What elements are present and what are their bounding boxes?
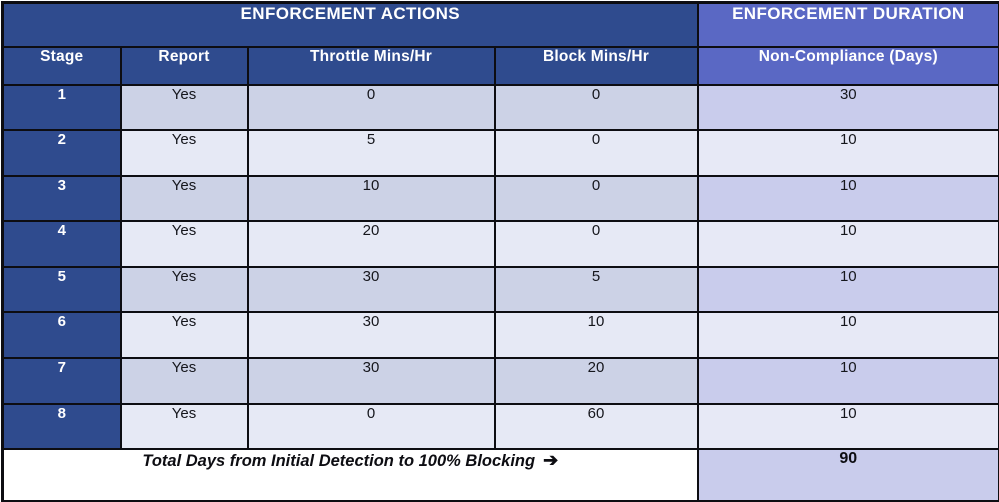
cell-block: 60 [495,404,698,450]
cell-duration: 30 [698,85,999,131]
table-row: 1 Yes 0 0 30 [3,85,999,131]
cell-report: Yes [121,85,248,131]
cell-stage: 2 [3,130,121,176]
column-header-non-compliance-days: Non-Compliance (Days) [698,47,999,85]
column-header-row: Stage Report Throttle Mins/Hr Block Mins… [3,47,999,85]
table-header: ENFORCEMENT ACTIONS ENFORCEMENT DURATION… [3,3,999,85]
cell-block: 0 [495,221,698,267]
cell-block: 5 [495,267,698,313]
cell-throttle: 0 [248,85,495,131]
table-row: 6 Yes 30 10 10 [3,312,999,358]
cell-stage: 7 [3,358,121,404]
cell-report: Yes [121,404,248,450]
group-header-enforcement-actions: ENFORCEMENT ACTIONS [3,3,698,47]
group-header-enforcement-duration: ENFORCEMENT DURATION [698,3,999,47]
cell-duration: 10 [698,312,999,358]
cell-report: Yes [121,312,248,358]
cell-throttle: 20 [248,221,495,267]
cell-throttle: 5 [248,130,495,176]
column-header-stage: Stage [3,47,121,85]
column-header-report: Report [121,47,248,85]
table-row: 2 Yes 5 0 10 [3,130,999,176]
cell-duration: 10 [698,221,999,267]
table-footer: Total Days from Initial Detection to 100… [3,449,999,501]
cell-block: 0 [495,130,698,176]
table-row: 8 Yes 0 60 10 [3,404,999,450]
cell-throttle: 0 [248,404,495,450]
cell-report: Yes [121,130,248,176]
cell-throttle: 10 [248,176,495,222]
summary-row: Total Days from Initial Detection to 100… [3,449,999,501]
table-row: 4 Yes 20 0 10 [3,221,999,267]
cell-throttle: 30 [248,312,495,358]
cell-duration: 10 [698,267,999,313]
cell-stage: 5 [3,267,121,313]
cell-stage: 4 [3,221,121,267]
cell-duration: 10 [698,176,999,222]
cell-throttle: 30 [248,358,495,404]
cell-report: Yes [121,267,248,313]
summary-label-text: Total Days from Initial Detection to 100… [142,452,535,470]
cell-duration: 10 [698,130,999,176]
arrow-right-icon: ➔ [535,450,558,471]
cell-stage: 6 [3,312,121,358]
cell-report: Yes [121,176,248,222]
cell-duration: 10 [698,404,999,450]
table-row: 7 Yes 30 20 10 [3,358,999,404]
table-body: 1 Yes 0 0 30 2 Yes 5 0 10 3 Yes 10 0 10 [3,85,999,450]
table-row: 5 Yes 30 5 10 [3,267,999,313]
cell-stage: 1 [3,85,121,131]
cell-throttle: 30 [248,267,495,313]
group-header-row: ENFORCEMENT ACTIONS ENFORCEMENT DURATION [3,3,999,47]
summary-label-cell: Total Days from Initial Detection to 100… [3,449,698,501]
cell-stage: 3 [3,176,121,222]
cell-block: 20 [495,358,698,404]
cell-block: 0 [495,176,698,222]
table-row: 3 Yes 10 0 10 [3,176,999,222]
cell-block: 0 [495,85,698,131]
cell-block: 10 [495,312,698,358]
cell-stage: 8 [3,404,121,450]
cell-duration: 10 [698,358,999,404]
summary-total-value: 90 [698,449,999,501]
cell-report: Yes [121,358,248,404]
cell-report: Yes [121,221,248,267]
column-header-block-mins-hr: Block Mins/Hr [495,47,698,85]
enforcement-stages-table: ENFORCEMENT ACTIONS ENFORCEMENT DURATION… [1,1,999,502]
column-header-throttle-mins-hr: Throttle Mins/Hr [248,47,495,85]
enforcement-stages-table-root: ENFORCEMENT ACTIONS ENFORCEMENT DURATION… [0,0,999,502]
